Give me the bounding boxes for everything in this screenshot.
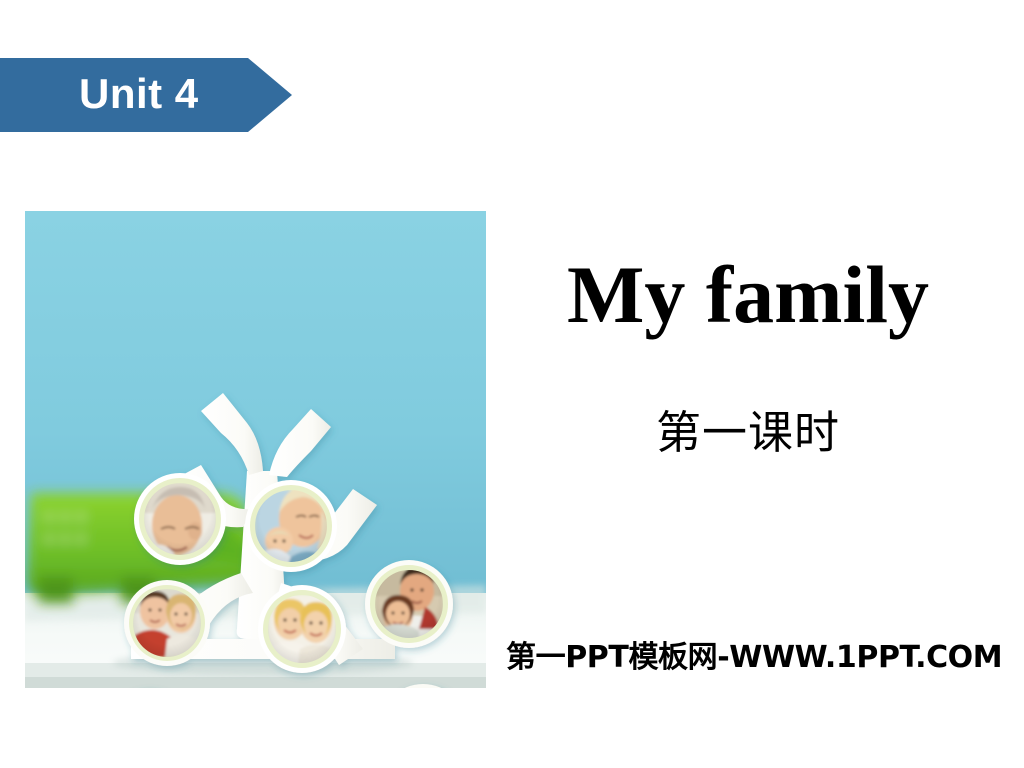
slide-canvas: Unit 4 [0,0,1024,768]
family-tree-photo [25,211,486,688]
page-title: My family [498,252,998,338]
unit-banner-label: Unit 4 [0,73,199,118]
watermark-text: 第一PPT模板网-WWW.1PPT.COM [506,641,1002,674]
title-block: My family [498,252,998,338]
page-subtitle: 第一课时 [498,408,998,458]
unit-banner: Unit 4 [0,58,292,132]
family-tree-illustration [25,211,486,688]
